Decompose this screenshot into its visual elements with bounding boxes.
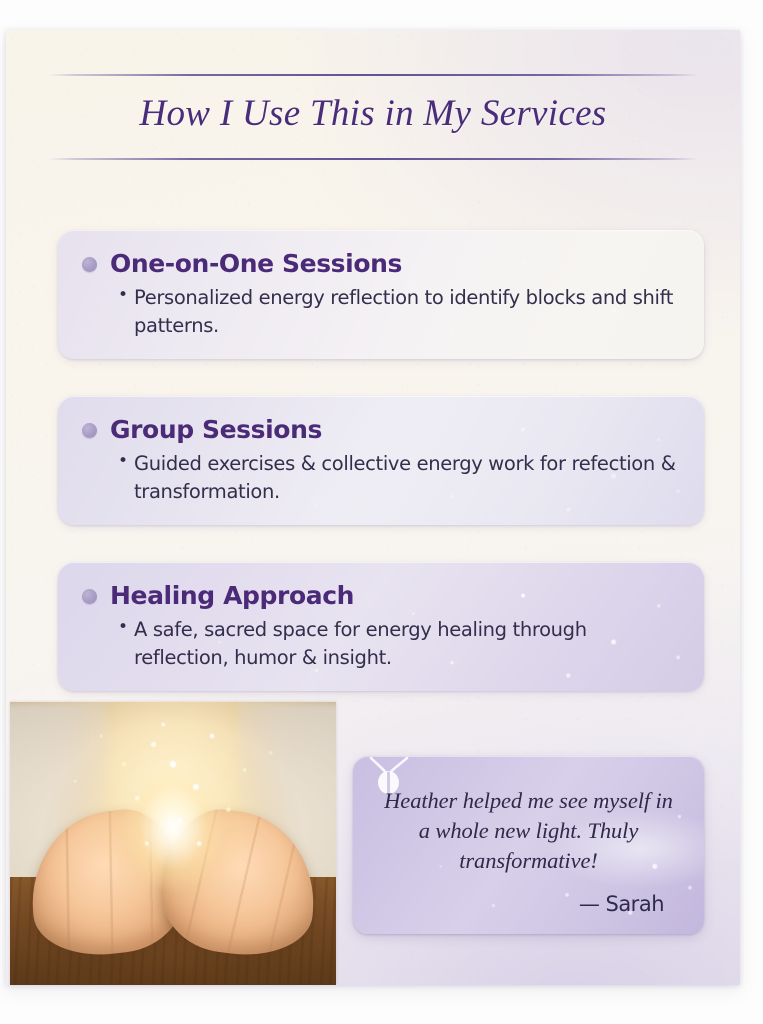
card-body-text: Personalized energy reflection to identi… (118, 284, 678, 339)
card-heading-row: One-on-One Sessions (82, 250, 678, 278)
photo-vignette (10, 702, 336, 985)
header-divider-top (48, 74, 698, 76)
card-title: Group Sessions (110, 416, 322, 444)
testimonial-quote: Heather helped me see myself in a whole … (379, 786, 678, 876)
hands-with-light-photo (10, 702, 336, 985)
bullet-dot-icon (82, 257, 97, 272)
card-heading-row: Healing Approach (82, 582, 678, 610)
service-card-one-on-one-sessions[interactable]: One-on-One Sessions Personalized energy … (58, 230, 704, 359)
service-card-group-sessions[interactable]: Group Sessions Guided exercises & collec… (58, 396, 704, 525)
card-body-text: Guided exercises & collective energy wor… (118, 450, 678, 505)
bullet-dot-icon (82, 589, 97, 604)
flyer-page: How I Use This in My Services One-on-One… (6, 30, 740, 985)
bullet-dot-icon (82, 423, 97, 438)
service-card-healing-approach[interactable]: Healing Approach A safe, sacred space fo… (58, 562, 704, 691)
screenshot-canvas: How I Use This in My Services One-on-One… (0, 0, 763, 1024)
header-divider-bottom (48, 158, 698, 160)
card-heading-row: Group Sessions (82, 416, 678, 444)
card-title: One-on-One Sessions (110, 250, 402, 278)
testimonial-attribution: — Sarah (379, 892, 678, 916)
testimonial-card[interactable]: Heather helped me see myself in a whole … (353, 756, 704, 934)
card-body-text: A safe, sacred space for energy healing … (118, 616, 678, 671)
card-title: Healing Approach (110, 582, 354, 610)
page-title: How I Use This in My Services (6, 92, 740, 135)
